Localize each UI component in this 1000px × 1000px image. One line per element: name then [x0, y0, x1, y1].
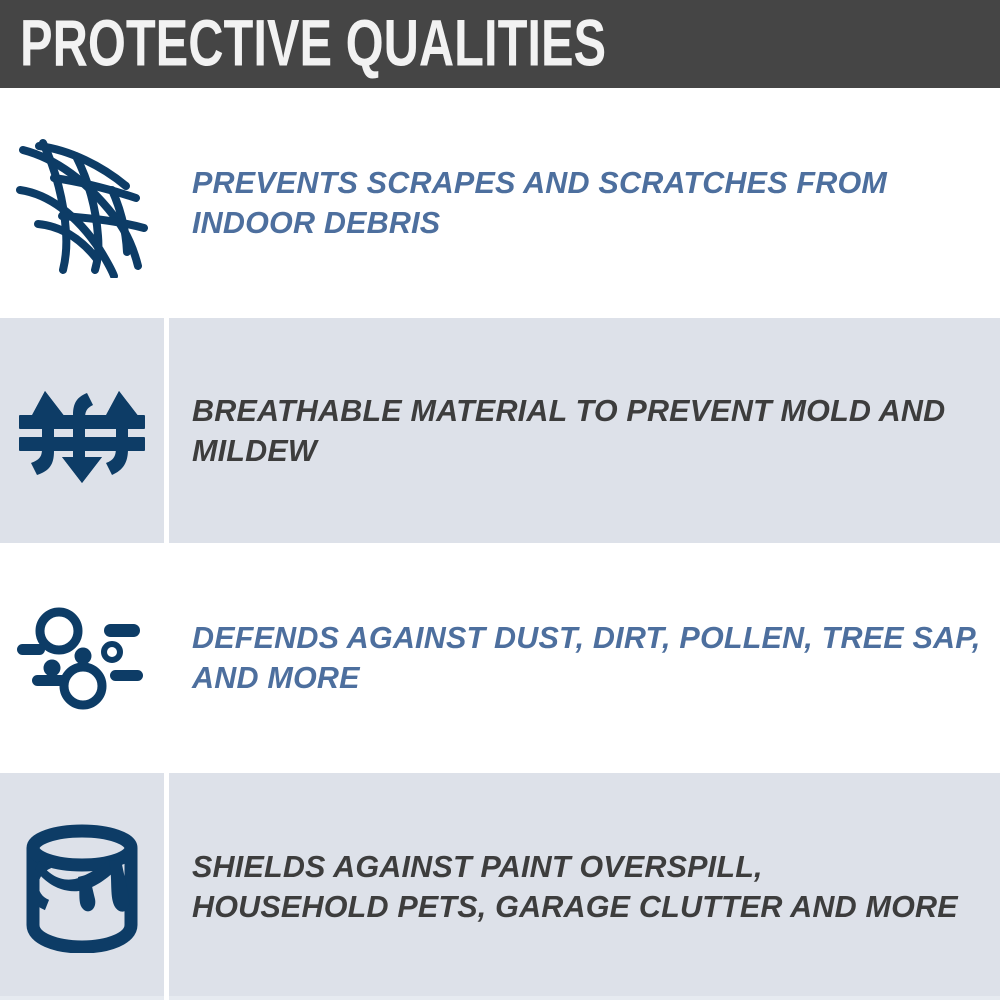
icon-cell [0, 318, 164, 543]
feature-text-line: DEFENDS AGAINST DUST, DIRT, POLLEN, TREE… [192, 618, 981, 658]
feature-text: BREATHABLE MATERIAL TO PREVENT MOLD AND … [169, 391, 985, 471]
feature-row-breathability: BREATHABLE MATERIAL TO PREVENT MOLD AND … [0, 318, 1000, 543]
text-cell: BREATHABLE MATERIAL TO PREVENT MOLD AND … [169, 318, 1000, 543]
bottom-edge-divider [164, 996, 169, 1000]
icon-cell [0, 773, 164, 1000]
feature-text-line: BREATHABLE MATERIAL TO PREVENT MOLD AND [192, 391, 945, 431]
feature-row-dust-defense: DEFENDS AGAINST DUST, DIRT, POLLEN, TREE… [0, 543, 1000, 773]
text-cell: SHIELDS AGAINST PAINT OVERSPILL, HOUSEHO… [169, 773, 1000, 1000]
bottom-edge-strip [0, 996, 1000, 1000]
feature-text-line: SHIELDS AGAINST PAINT OVERSPILL, [192, 847, 958, 887]
feature-row-scratch-protection: PREVENTS SCRAPES AND SCRATCHES FROM INDO… [0, 88, 1000, 318]
feature-text-line: AND MORE [192, 658, 981, 698]
feature-text-line: HOUSEHOLD PETS, GARAGE CLUTTER AND MORE [192, 887, 958, 927]
feature-text: PREVENTS SCRAPES AND SCRATCHES FROM INDO… [169, 163, 927, 243]
paint-can-icon [21, 821, 143, 953]
feature-text-line: PREVENTS SCRAPES AND SCRATCHES FROM [192, 163, 887, 203]
feature-text: DEFENDS AGAINST DUST, DIRT, POLLEN, TREE… [169, 618, 1000, 698]
header-bar: PROTECTIVE QUALITIES [0, 0, 1000, 88]
breathable-airflow-arrows-icon [19, 375, 145, 487]
dust-particles-icon [17, 603, 147, 713]
text-cell: PREVENTS SCRAPES AND SCRATCHES FROM INDO… [169, 88, 1000, 318]
feature-text: SHIELDS AGAINST PAINT OVERSPILL, HOUSEHO… [169, 847, 998, 927]
text-cell: DEFENDS AGAINST DUST, DIRT, POLLEN, TREE… [169, 543, 1000, 773]
page-title: PROTECTIVE QUALITIES [20, 10, 606, 76]
woven-mesh-icon [16, 128, 148, 278]
feature-row-paint-shield: SHIELDS AGAINST PAINT OVERSPILL, HOUSEHO… [0, 773, 1000, 1000]
feature-text-line: MILDEW [192, 431, 945, 471]
icon-cell [0, 543, 164, 773]
protective-qualities-infographic: PROTECTIVE QUALITIES [0, 0, 1000, 1000]
icon-cell [0, 88, 164, 318]
feature-text-line: INDOOR DEBRIS [192, 203, 887, 243]
